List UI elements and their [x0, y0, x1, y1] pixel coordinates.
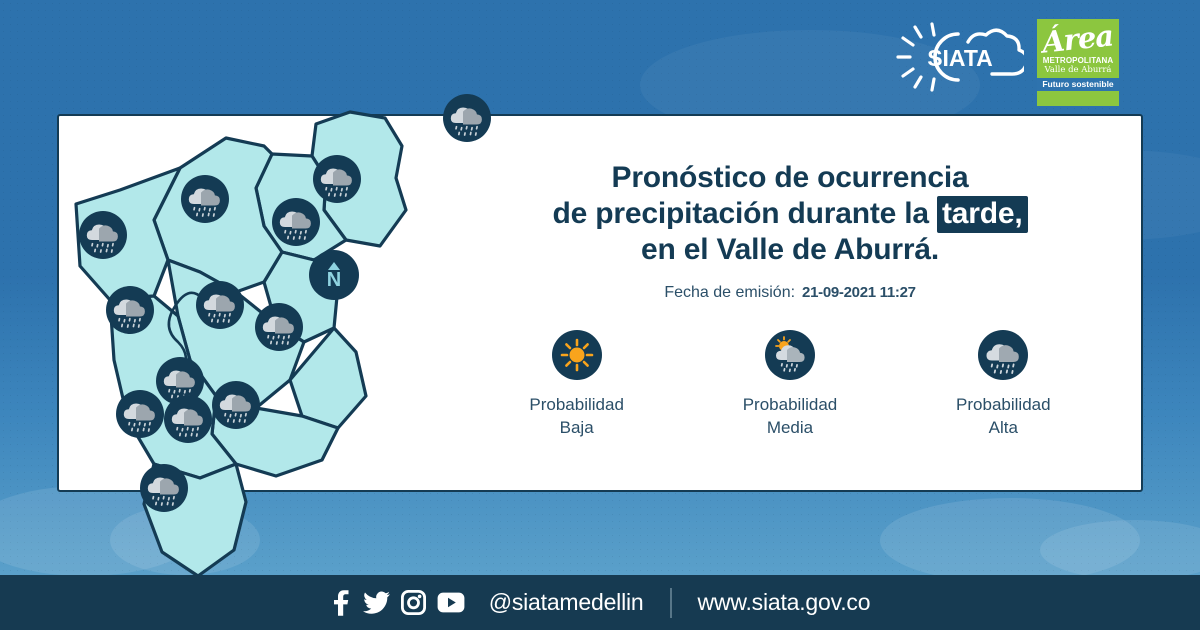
cloud-rain-icon: [79, 211, 127, 259]
compass-label: N: [327, 271, 341, 289]
legend-media-line1: Probabilidad: [743, 393, 838, 416]
forecast-headline-block: Pronóstico de ocurrencia de precipitació…: [470, 160, 1110, 302]
cloud-rain-icon: [164, 395, 212, 443]
legend-baja-line2: Baja: [529, 416, 624, 439]
legend-label-alta: Probabilidad Alta: [956, 393, 1051, 439]
footer-divider: [670, 588, 672, 618]
youtube-icon[interactable]: [437, 592, 465, 613]
cloud-rain-icon: [313, 155, 361, 203]
website-url[interactable]: www.siata.gov.co: [698, 589, 871, 616]
cloud-rain-icon: [181, 175, 229, 223]
area-logo-script: Área: [1041, 20, 1115, 57]
legend-label-media: Probabilidad Media: [743, 393, 838, 439]
cloud-rain-icon: [196, 281, 244, 329]
siata-logo: SIATA: [896, 22, 1024, 92]
emission-value: 21-09-2021 11:27: [802, 284, 916, 301]
instagram-icon[interactable]: [401, 590, 426, 615]
facebook-icon[interactable]: [330, 590, 352, 616]
area-logo-line2: Valle de Aburrá: [1044, 65, 1111, 75]
footer-bar: @siatamedellin www.siata.gov.co: [0, 575, 1200, 630]
cloud-rain-icon: [106, 286, 154, 334]
legend-media-line2: Media: [743, 416, 838, 439]
cloud-rain-icon: [255, 303, 303, 351]
title-highlight-tarde: tarde,: [937, 196, 1028, 233]
cloud-rain-icon: [140, 464, 188, 512]
legend-alta-line2: Alta: [956, 416, 1051, 439]
emission-label: Fecha de emisión:: [664, 284, 795, 302]
title-line-3: en el Valle de Aburrá.: [470, 232, 1110, 268]
legend-alta-line1: Probabilidad: [956, 393, 1051, 416]
sun-cloud-rain-icon: [765, 330, 815, 380]
title-line-2-text: de precipitación durante la: [553, 197, 938, 230]
cloud-rain-icon: [443, 94, 491, 142]
legend-item-baja: Probabilidad Baja: [492, 330, 662, 439]
legend-item-media: Probabilidad Media: [705, 330, 875, 439]
title-line-2: de precipitación durante la tarde,: [470, 196, 1110, 232]
siata-logo-text: SIATA: [927, 45, 993, 71]
legend-item-alta: Probabilidad Alta: [918, 330, 1088, 439]
compass-north-icon: N: [309, 250, 359, 300]
cloud-rain-icon: [978, 330, 1028, 380]
footer-content: @siatamedellin www.siata.gov.co: [330, 588, 871, 618]
legend-label-baja: Probabilidad Baja: [529, 393, 624, 439]
title-line-1: Pronóstico de ocurrencia: [470, 160, 1110, 196]
legend-baja-line1: Probabilidad: [529, 393, 624, 416]
social-handle[interactable]: @siatamedellin: [489, 589, 644, 616]
emission-date: Fecha de emisión: 21-09-2021 11:27: [470, 284, 1110, 302]
cloud-rain-icon: [116, 390, 164, 438]
cloud-rain-icon: [212, 381, 260, 429]
page-title: Pronóstico de ocurrencia de precipitació…: [470, 160, 1110, 268]
area-logo-tagline: Futuro sostenible: [1037, 78, 1119, 91]
area-metropolitana-logo: Área METROPOLITANA Valle de Aburrá Futur…: [1037, 19, 1119, 106]
cloud-rain-icon: [272, 198, 320, 246]
probability-legend: Probabilidad Baja: [470, 330, 1110, 439]
social-links: [330, 590, 465, 616]
twitter-icon[interactable]: [363, 591, 390, 615]
sun-icon: [552, 330, 602, 380]
